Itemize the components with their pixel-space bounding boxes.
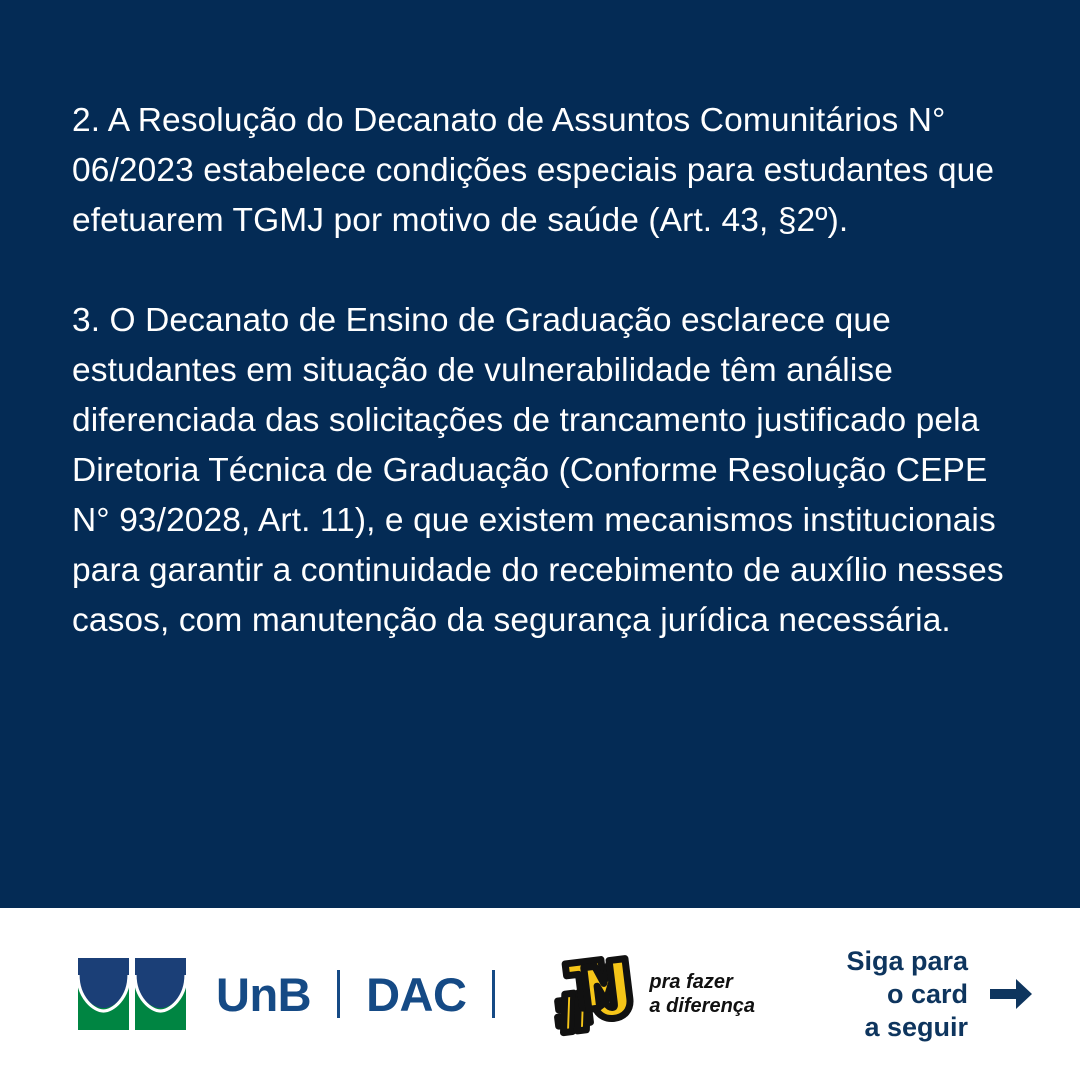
- content-panel: 2. A Resolução do Decanato de Assuntos C…: [0, 0, 1080, 908]
- brand-divider-2: [492, 970, 495, 1018]
- brand-unb-label: UnB: [216, 971, 311, 1018]
- follow-next-card-cta[interactable]: Siga para o card a seguir: [846, 945, 1034, 1044]
- tmj-tagline-line-1: pra fazer: [649, 970, 755, 994]
- arrow-right-icon[interactable]: [988, 974, 1034, 1014]
- brand-dac-label: DAC: [366, 971, 466, 1018]
- brand-cluster: UnB DAC: [78, 951, 755, 1037]
- follow-line-3: a seguir: [846, 1011, 968, 1044]
- tmj-tagline: pra fazer a diferença: [649, 970, 755, 1018]
- tmj-lockup: pra fazer a diferença: [543, 951, 755, 1037]
- brand-divider-1: [337, 970, 340, 1018]
- paragraph-3: 3. O Decanato de Ensino de Graduação esc…: [72, 296, 1008, 646]
- unb-shield-icon: [78, 958, 186, 1030]
- social-card: 2. A Resolução do Decanato de Assuntos C…: [0, 0, 1080, 1080]
- follow-next-card-text: Siga para o card a seguir: [846, 945, 968, 1044]
- tmj-hashtag-icon: [543, 951, 639, 1037]
- paragraph-2: 2. A Resolução do Decanato de Assuntos C…: [72, 96, 1008, 246]
- footer-bar: UnB DAC: [0, 908, 1080, 1080]
- tmj-tagline-line-2: a diferença: [649, 994, 755, 1018]
- follow-line-1: Siga para: [846, 945, 968, 978]
- follow-line-2: o card: [846, 978, 968, 1011]
